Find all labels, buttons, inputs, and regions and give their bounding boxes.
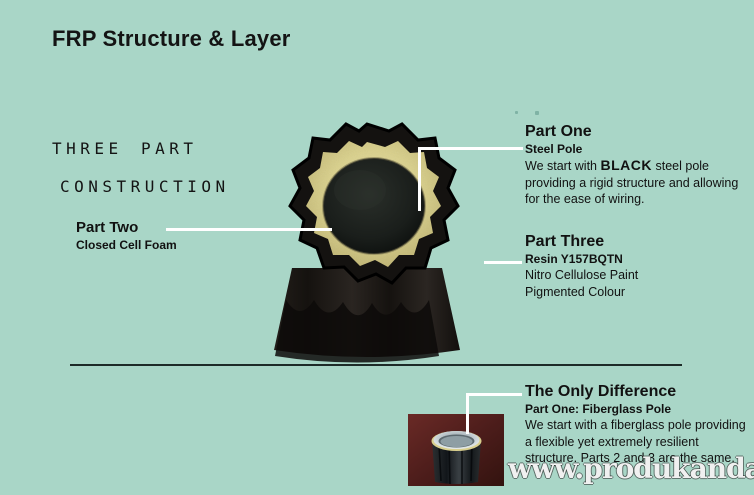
callout-part-three-subheading: Resin Y157BQTN xyxy=(525,251,747,267)
leader-line-only-difference-vertical xyxy=(466,393,469,434)
callout-part-three-line-2: Pigmented Colour xyxy=(525,284,747,301)
callout-part-two: Part Two Closed Cell Foam xyxy=(76,218,276,253)
callout-part-one-heading: Part One xyxy=(525,122,747,141)
callout-only-difference: The Only Difference Part One: Fiberglass… xyxy=(525,382,753,467)
poster-canvas: FRP Structure & Layer Three Part Constru… xyxy=(0,0,754,495)
callout-only-difference-body: We start with a fiberglass pole providin… xyxy=(525,417,753,467)
page-title: FRP Structure & Layer xyxy=(52,26,291,52)
leader-line-part-one-vertical xyxy=(418,147,421,211)
leader-line-part-three xyxy=(484,261,522,264)
callout-only-difference-heading: The Only Difference xyxy=(525,382,753,401)
callout-part-one-subheading: Steel Pole xyxy=(525,141,747,157)
callout-part-two-heading: Part Two xyxy=(76,218,276,237)
callout-only-difference-subheading: Part One: Fiberglass Pole xyxy=(525,401,753,417)
callout-part-two-subheading: Closed Cell Foam xyxy=(76,237,276,253)
callout-part-one-body-pre: We start with xyxy=(525,159,597,173)
callout-part-one: Part One Steel Pole We start with BLACK … xyxy=(525,122,747,208)
tagline: Three Part Construction xyxy=(52,128,230,204)
tagline-line-1: Three Part xyxy=(52,134,198,160)
leader-line-only-difference-horizontal xyxy=(466,393,522,396)
artifact-dot xyxy=(515,111,518,114)
section-divider xyxy=(70,364,682,366)
tagline-line-2: Construction xyxy=(60,166,230,204)
fluted-pole-cross-section-image xyxy=(252,118,482,363)
fiberglass-pole-end-photo xyxy=(408,414,504,486)
callout-part-three-line-1: Nitro Cellulose Paint xyxy=(525,267,747,284)
callout-part-one-emphasis: BLACK xyxy=(601,157,653,173)
artifact-dot xyxy=(535,111,539,115)
callout-part-three: Part Three Resin Y157BQTN Nitro Cellulos… xyxy=(525,232,747,300)
callout-part-one-body: We start with BLACK steel pole providing… xyxy=(525,157,747,208)
callout-part-three-heading: Part Three xyxy=(525,232,747,251)
leader-line-part-one-horizontal xyxy=(418,147,523,150)
